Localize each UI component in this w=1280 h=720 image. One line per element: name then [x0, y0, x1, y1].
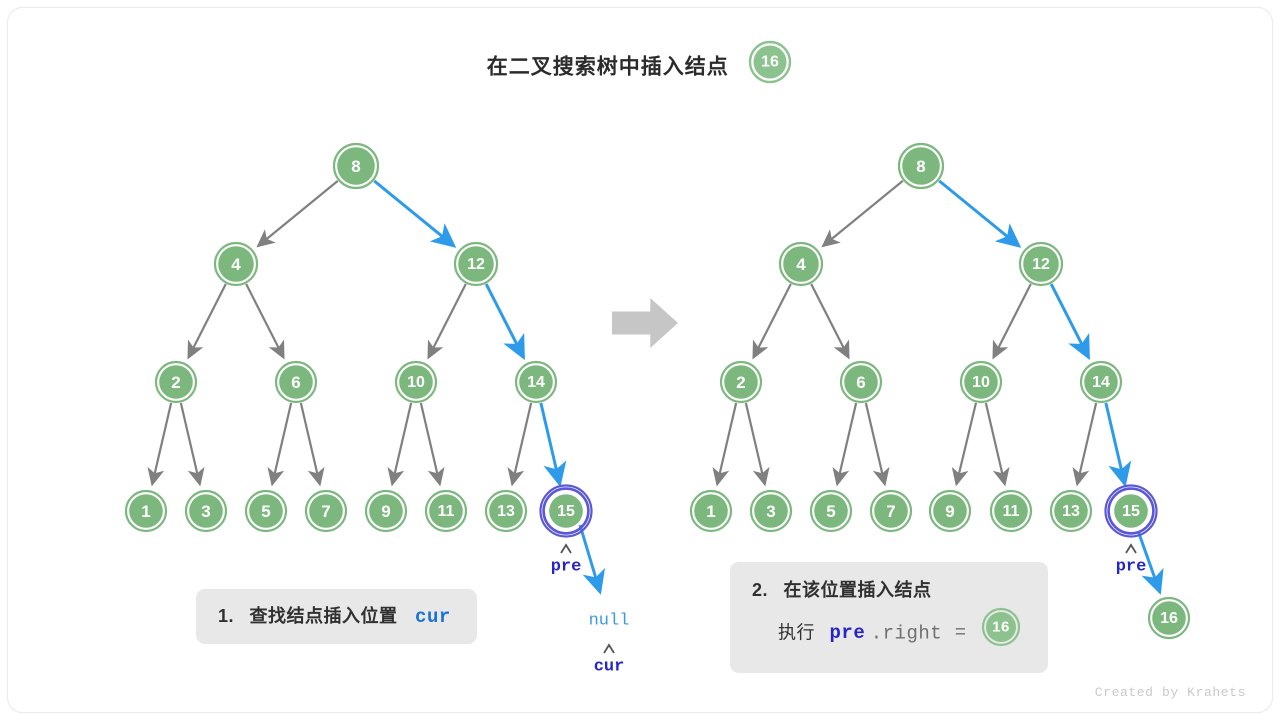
- tree-node[interactable]: 11: [991, 491, 1031, 531]
- tree-edge: [837, 403, 856, 484]
- tree-node[interactable]: 12: [1020, 243, 1062, 285]
- tree-node[interactable]: 5: [811, 491, 851, 531]
- node-label: 15: [1122, 503, 1140, 520]
- caption-step-2: 2. 在该位置插入结点 执行 pre .right = 16: [730, 562, 1048, 673]
- tree-node[interactable]: 3: [186, 491, 226, 531]
- caption-2-chip-value: 16: [992, 619, 1010, 636]
- tree-edge: [823, 181, 903, 246]
- tree-node[interactable]: 13: [1051, 491, 1091, 531]
- pointer-cur: cur: [594, 658, 625, 677]
- tree-node[interactable]: 5: [246, 491, 286, 531]
- caption-2-number: 2.: [752, 580, 768, 600]
- node-label: 2: [171, 373, 180, 392]
- edge-15-to-null: [580, 525, 600, 592]
- caption-1-text: 查找结点插入位置: [250, 606, 398, 626]
- tree-node[interactable]: 1: [126, 491, 166, 531]
- tree-edge: [1051, 284, 1088, 357]
- node-label: 11: [438, 503, 455, 520]
- transition-arrow-icon: [612, 298, 678, 348]
- node-label: 13: [497, 503, 515, 520]
- tree-node[interactable]: 14: [1081, 362, 1121, 402]
- tree-edge: [392, 403, 411, 484]
- node-label: 16: [1160, 610, 1178, 627]
- node-label: 7: [321, 502, 330, 521]
- caption-step-1: 1. 查找结点插入位置 cur: [196, 589, 477, 644]
- node-label: 12: [1032, 256, 1050, 273]
- node-label: 8: [351, 157, 360, 176]
- tree-node[interactable]: 8: [899, 144, 943, 188]
- tree-node[interactable]: 11: [426, 491, 466, 531]
- tree-edge: [541, 403, 560, 484]
- tree-node[interactable]: 9: [366, 491, 406, 531]
- node-label: 10: [407, 374, 425, 391]
- tree-node[interactable]: 2: [721, 362, 761, 402]
- node-label: 9: [381, 502, 390, 521]
- node-label: 3: [766, 502, 775, 521]
- tree-node[interactable]: 15: [1106, 486, 1157, 537]
- node-label: 14: [1092, 374, 1110, 391]
- caption-1-code: cur: [415, 606, 451, 628]
- tree-edge: [939, 181, 1019, 246]
- node-label: 15: [557, 503, 575, 520]
- caption-2-node-chip: 16: [980, 606, 1022, 657]
- diagram-page: 在二叉搜索树中插入结点 16 8412261014135791113158412…: [0, 0, 1280, 720]
- node-label: 8: [916, 157, 925, 176]
- node-label: 9: [945, 502, 954, 521]
- pointer-caret-icon: [1126, 545, 1136, 553]
- tree-node[interactable]: 12: [455, 243, 497, 285]
- caption-1-number: 1.: [218, 606, 234, 626]
- tree-edge: [486, 284, 523, 357]
- tree-edge: [956, 403, 976, 484]
- caption-2-var: pre: [830, 622, 866, 644]
- pointer-pre: pre: [1116, 558, 1147, 577]
- tree-node[interactable]: 1: [691, 491, 731, 531]
- node-label: 14: [527, 374, 545, 391]
- pointer-caret-icon: [561, 545, 571, 553]
- node-label: 12: [467, 256, 485, 273]
- caption-2-equals: =: [955, 622, 967, 644]
- tree-node[interactable]: 4: [215, 243, 257, 285]
- tree-node[interactable]: 15: [541, 486, 592, 537]
- tree-node[interactable]: 13: [486, 491, 526, 531]
- tree-edge: [512, 403, 531, 484]
- footer-credit: Created by Krahets: [1095, 685, 1246, 700]
- tree-node[interactable]: 7: [306, 491, 346, 531]
- node-label: 6: [856, 373, 865, 392]
- node-label: 5: [826, 502, 835, 521]
- tree-edge: [753, 284, 790, 357]
- node-label: 1: [141, 502, 150, 521]
- tree-canvas: 8412261014135791113158412261014135791113…: [0, 0, 1280, 720]
- pointer-caret-icon: [604, 645, 614, 653]
- tree-edge: [374, 181, 454, 246]
- node-label: 2: [736, 373, 745, 392]
- tree-node[interactable]: 9: [930, 491, 970, 531]
- tree-edge: [746, 403, 765, 484]
- tree-node[interactable]: 10: [961, 362, 1001, 402]
- tree-node[interactable]: 7: [871, 491, 911, 531]
- tree-edge: [272, 403, 291, 484]
- transition-arrow-shape: [612, 298, 678, 348]
- node-label: 10: [972, 374, 990, 391]
- tree-node[interactable]: 14: [516, 362, 556, 402]
- caption-2-prefix: 执行: [778, 622, 815, 642]
- tree-edge: [428, 284, 465, 357]
- node-label: 6: [291, 373, 300, 392]
- node-label: 7: [886, 502, 895, 521]
- tree-edge: [811, 284, 848, 357]
- node-label: 13: [1062, 503, 1080, 520]
- tree-node[interactable]: 6: [841, 362, 881, 402]
- tree-edge: [717, 403, 736, 484]
- tree-edge: [421, 403, 440, 484]
- tree-edge: [866, 403, 885, 484]
- tree-node[interactable]: 2: [156, 362, 196, 402]
- null-label: null: [589, 612, 630, 631]
- tree-node[interactable]: 16: [1149, 598, 1189, 638]
- node-label: 4: [231, 255, 241, 274]
- tree-edge: [258, 181, 338, 246]
- tree-node[interactable]: 3: [751, 491, 791, 531]
- tree-node[interactable]: 6: [276, 362, 316, 402]
- tree-node[interactable]: 10: [396, 362, 436, 402]
- caption-2-line1: 在该位置插入结点: [784, 580, 932, 600]
- tree-edge: [986, 403, 1005, 484]
- node-label: 1: [706, 502, 715, 521]
- tree-edge: [188, 284, 225, 357]
- tree-edge: [1077, 403, 1096, 484]
- tree-edge: [1106, 403, 1125, 484]
- tree-edge: [246, 284, 283, 357]
- caption-2-prop: .right: [871, 622, 942, 644]
- node-label: 3: [201, 502, 210, 521]
- pointer-pre: pre: [551, 558, 582, 577]
- node-label: 11: [1003, 503, 1020, 520]
- tree-node[interactable]: 4: [780, 243, 822, 285]
- tree-edge: [993, 284, 1030, 357]
- tree-node[interactable]: 8: [334, 144, 378, 188]
- node-label: 4: [796, 255, 806, 274]
- node-label: 5: [261, 502, 270, 521]
- tree-edge: [181, 403, 200, 484]
- tree-edge: [301, 403, 320, 484]
- tree-edge: [152, 403, 171, 484]
